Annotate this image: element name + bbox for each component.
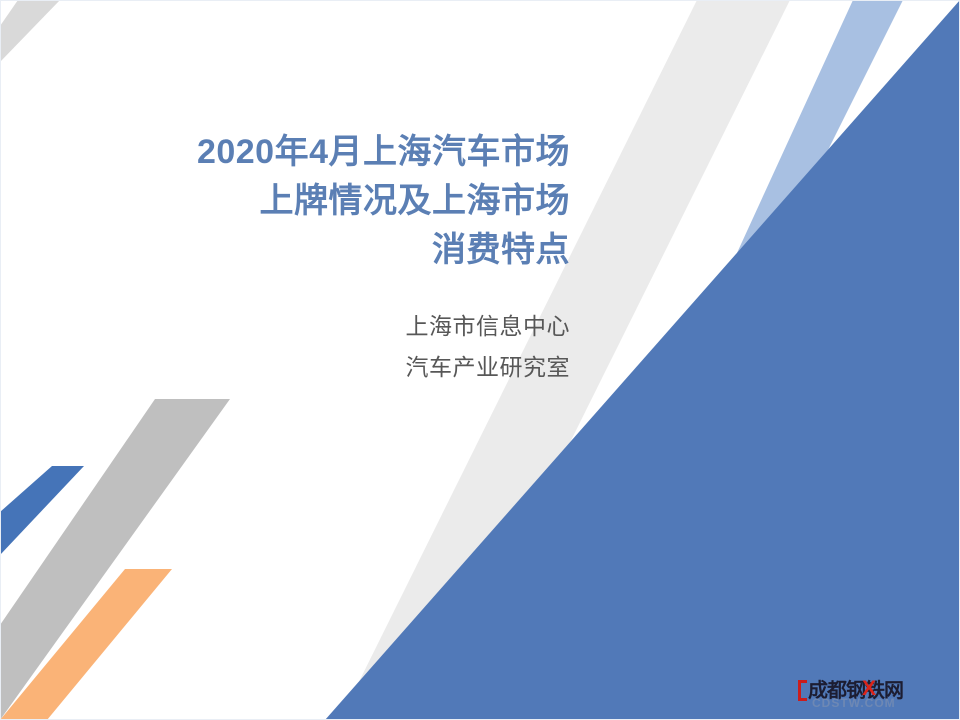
top-left-gray-stripe-shape — [0, 0, 60, 62]
watermark-url-text: CDSTW.COM — [812, 697, 896, 710]
watermark: 成都钢铁网 X CDSTW.COM — [798, 678, 944, 712]
title-line-3: 消费特点 — [0, 226, 570, 275]
watermark-bracket-icon — [798, 680, 807, 701]
page-subtitle: 上海市信息中心 汽车产业研究室 — [0, 306, 570, 388]
page-title: 2020年4月上海汽车市场 上牌情况及上海市场 消费特点 — [0, 128, 570, 275]
title-line-1: 2020年4月上海汽车市场 — [0, 128, 570, 177]
subtitle-line-1: 上海市信息中心 — [0, 306, 570, 347]
bottom-left-gray-band-shape — [0, 399, 230, 720]
watermark-inner: 成都钢铁网 X CDSTW.COM — [798, 678, 944, 712]
title-slide: 2020年4月上海汽车市场 上牌情况及上海市场 消费特点 上海市信息中心 汽车产… — [0, 0, 960, 720]
subtitle-line-2: 汽车产业研究室 — [0, 347, 570, 388]
title-line-2: 上牌情况及上海市场 — [0, 177, 570, 226]
